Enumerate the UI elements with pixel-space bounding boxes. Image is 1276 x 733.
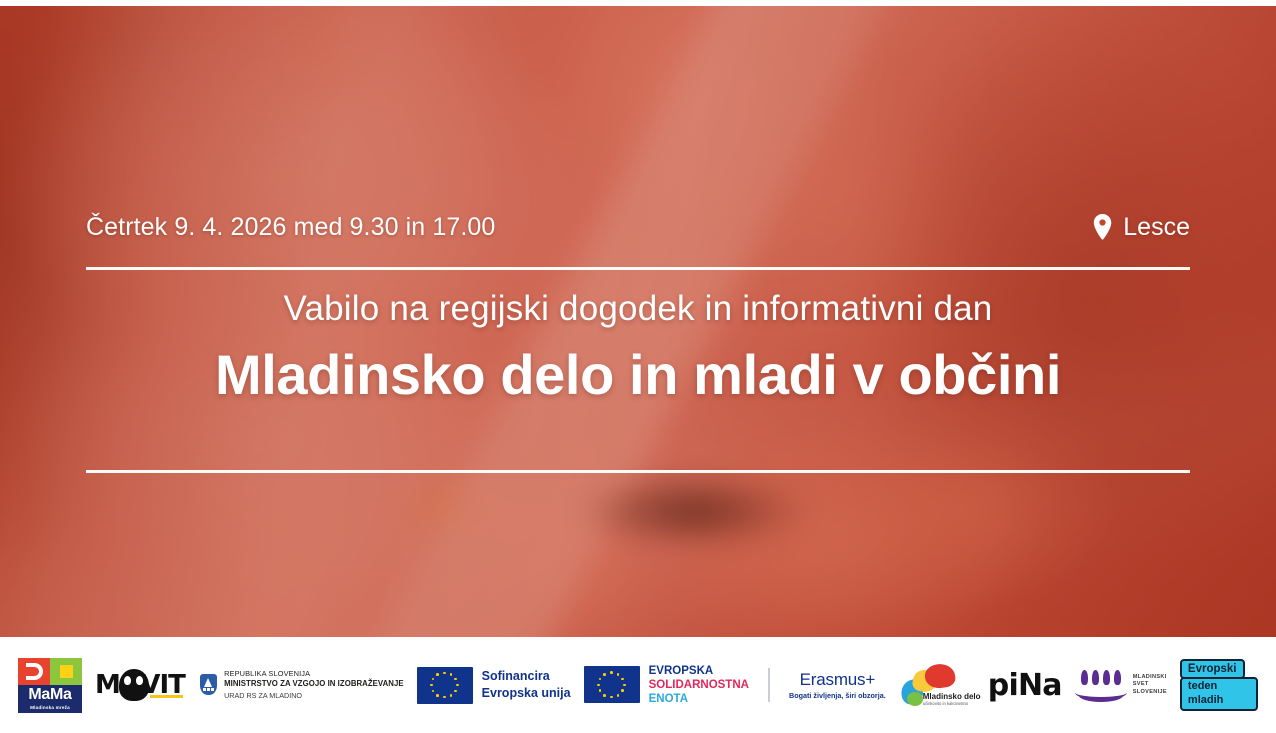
ministry-line-3: URAD RS ZA MLADINO xyxy=(224,691,404,701)
logo-erasmus-plus: Erasmus+ Bogati življenja, širi obzorja. xyxy=(789,670,886,700)
event-headline: Mladinsko delo in mladi v občini xyxy=(86,344,1190,407)
movit-eye-right-icon xyxy=(136,676,143,685)
divider-top xyxy=(86,267,1190,270)
ministry-line-1: REPUBLIKA SLOVENIJA xyxy=(224,669,404,679)
logo-ministry: REPUBLIKA SLOVENIJA MINISTRSTVO ZA VZGOJ… xyxy=(200,669,404,701)
etm-line-2: teden mladih xyxy=(1180,677,1258,711)
mss-line-1: MLADINSKI xyxy=(1133,674,1167,681)
slovenia-coat-of-arms-icon xyxy=(200,674,217,695)
eu-cofund-line-1: Sofinancira xyxy=(482,668,571,685)
movit-eye-left-icon xyxy=(124,676,131,685)
logo-european-solidarity-unit: EVROPSKA SOLIDARNOSTNA ENOTA xyxy=(584,664,749,706)
movit-blob-icon xyxy=(119,669,149,701)
mama-mark xyxy=(18,658,82,685)
etm-line-1: Evropski xyxy=(1180,659,1245,679)
logo-mladinsko-delo: Mladinsko delo učinkovito in kakovostno xyxy=(899,662,975,708)
event-meta-row: Četrtek 9. 4. 2026 med 9.30 in 17.00 Les… xyxy=(86,205,1190,249)
logo-mama: MaMa Mladinska mreža xyxy=(18,658,82,713)
sponsor-logo-bar: MaMa Mladinska mreža MOVIT REPUBLIKA SLO… xyxy=(0,637,1276,733)
map-pin-icon xyxy=(1093,214,1112,240)
ministry-line-2: MINISTRSTVO ZA VZGOJO IN IZOBRAŽEVANJE xyxy=(224,679,404,689)
divider-bottom xyxy=(86,470,1190,473)
esc-line-1: EVROPSKA xyxy=(649,664,749,678)
event-location-label: Lesce xyxy=(1123,213,1190,242)
mladinsko-delo-wordmark: Mladinsko delo xyxy=(923,692,981,701)
event-location: Lesce xyxy=(1093,213,1190,242)
erasmus-wordmark: Erasmus+ xyxy=(789,670,886,690)
mladinsko-delo-tagline: učinkovito in kakovostno xyxy=(923,701,968,706)
eu-flag-icon xyxy=(417,667,473,704)
title-block: Vabilo na regijski dogodek in informativ… xyxy=(86,288,1190,407)
mama-wordmark: MaMa xyxy=(18,687,82,703)
event-kicker: Vabilo na regijski dogodek in informativ… xyxy=(86,288,1190,330)
logo-evropski-teden-mladih: Evropski teden mladih xyxy=(1180,659,1258,711)
hero-content: Četrtek 9. 4. 2026 med 9.30 in 17.00 Les… xyxy=(86,6,1190,637)
pina-wordmark: piNa xyxy=(988,668,1062,703)
mama-subtitle: Mladinska mreža xyxy=(18,705,82,710)
hero-banner: Četrtek 9. 4. 2026 med 9.30 in 17.00 Les… xyxy=(0,6,1276,637)
event-date: Četrtek 9. 4. 2026 med 9.30 in 17.00 xyxy=(86,213,495,242)
eu-cofund-line-2: Evropska unija xyxy=(482,685,571,702)
logo-pina: piNa xyxy=(988,668,1062,703)
esc-line-3: ENOTA xyxy=(649,692,749,706)
esc-line-2: SOLIDARNOSTNA xyxy=(649,678,749,692)
event-poster: Četrtek 9. 4. 2026 med 9.30 in 17.00 Les… xyxy=(0,0,1276,733)
movit-underline xyxy=(150,695,183,698)
logo-movit: MOVIT xyxy=(95,665,187,705)
eu-flag-icon xyxy=(584,666,640,703)
logo-divider xyxy=(768,668,770,702)
mss-line-2: SVET xyxy=(1133,681,1167,688)
mss-line-3: SLOVENIJE xyxy=(1133,689,1167,696)
mss-mark-icon xyxy=(1075,670,1127,700)
logo-mladinski-svet-slovenije: MLADINSKI SVET SLOVENIJE xyxy=(1075,670,1167,700)
erasmus-tagline: Bogati življenja, širi obzorja. xyxy=(789,691,886,700)
mladinsko-delo-figure-green-icon xyxy=(907,692,923,706)
logo-eu-cofunded: Sofinancira Evropska unija xyxy=(417,667,571,704)
